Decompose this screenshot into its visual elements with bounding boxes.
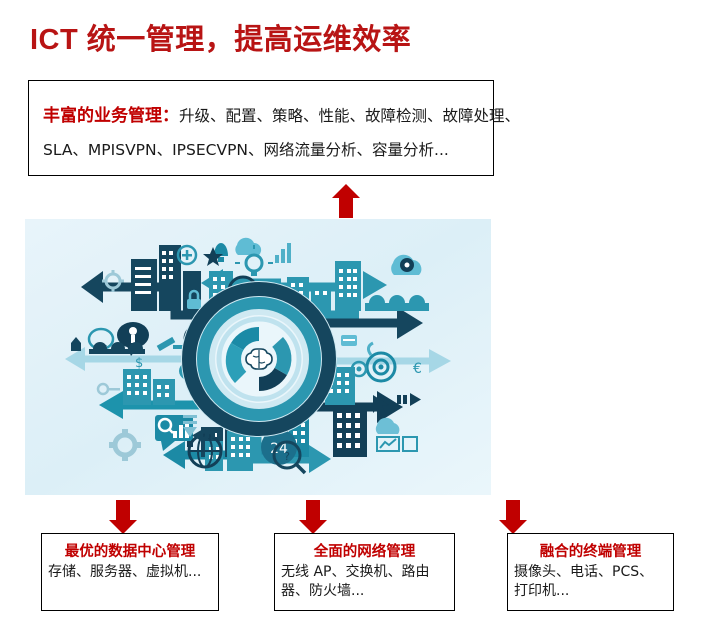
dollar-sign-icon: $	[135, 356, 143, 371]
category-box-network: 全面的网络管理 无线 AP、交换机、路由器、防火墙...	[274, 533, 455, 611]
euro-icon: €	[413, 361, 422, 377]
category-description: 无线 AP、交换机、路由器、防火墙...	[275, 561, 454, 601]
category-title: 融合的终端管理	[508, 540, 673, 561]
services-callout-box: 丰富的业务管理：升级、配置、策略、性能、故障检测、故障处理、 SLA、MPISV…	[28, 80, 494, 176]
arrow-down-icon	[109, 500, 137, 534]
services-heading: 丰富的业务管理：	[43, 106, 179, 126]
category-description: 存储、服务器、虚拟机...	[42, 561, 218, 582]
category-box-datacenter: 最优的数据中心管理 存储、服务器、虚拟机...	[41, 533, 219, 611]
services-line-1-text: 升级、配置、策略、性能、故障检测、故障处理、	[179, 107, 520, 125]
services-line-1: 丰富的业务管理：升级、配置、策略、性能、故障检测、故障处理、	[43, 101, 520, 126]
bridge-icon	[365, 295, 429, 311]
category-box-terminal: 融合的终端管理 摄像头、电话、PCS、打印机...	[507, 533, 674, 611]
category-title: 最优的数据中心管理	[42, 540, 218, 561]
category-description: 摄像头、电话、PCS、打印机...	[508, 561, 673, 601]
arrow-down-icon	[299, 500, 327, 534]
ict-management-infographic: $	[25, 219, 491, 495]
arrow-up-icon	[332, 184, 360, 218]
category-title: 全面的网络管理	[275, 540, 454, 561]
arrow-down-icon	[499, 500, 527, 534]
bench-icon	[89, 342, 145, 354]
services-line-2: SLA、MPISVPN、IPSECVPN、网络流量分析、容量分析...	[43, 138, 449, 160]
page-title: ICT 统一管理，提高运维效率	[30, 16, 411, 58]
card-icon	[341, 335, 357, 346]
yen-building-icon	[333, 405, 367, 457]
svg-text:$: $	[135, 356, 143, 371]
central-hub	[181, 281, 337, 437]
svg-text:?: ?	[284, 450, 290, 463]
svg-text:€: €	[413, 361, 422, 377]
